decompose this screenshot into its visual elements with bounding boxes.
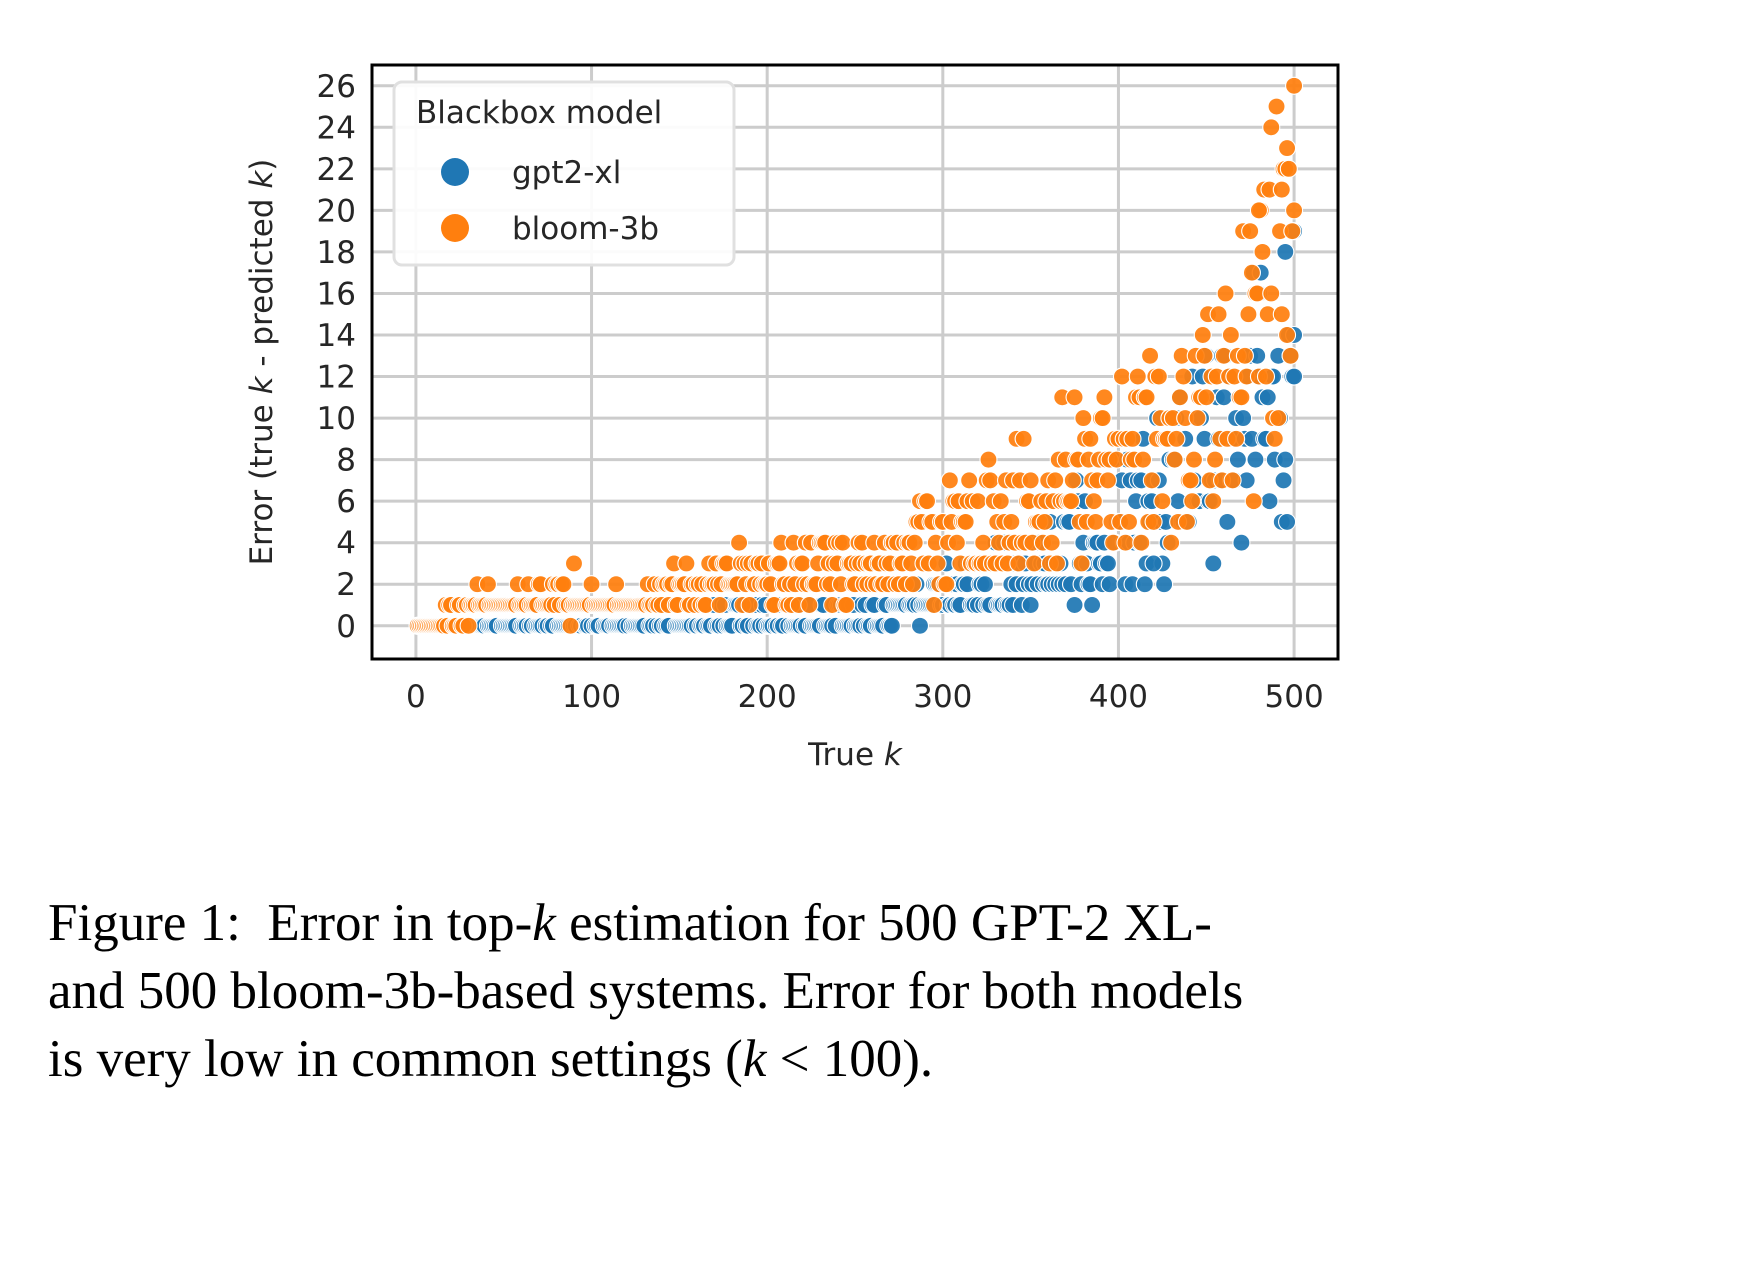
scatter-point-bloom-3b: [926, 597, 943, 614]
scatter-point-bloom-3b: [1217, 285, 1234, 302]
scatter-point-bloom-3b: [1185, 451, 1202, 468]
caption-line1-k: k: [532, 894, 556, 952]
caption-line1-b: estimation for 500 GPT-2 XL-: [556, 894, 1212, 952]
y-axis-title-a: Error (true: [244, 394, 280, 565]
scatter-point-bloom-3b: [1286, 202, 1303, 219]
scatter-point-bloom-3b: [1133, 534, 1150, 551]
scatter-point-bloom-3b: [741, 597, 758, 614]
scatter-point-gpt2-xl: [911, 617, 928, 634]
scatter-point-bloom-3b: [1129, 368, 1146, 385]
scatter-point-bloom-3b: [1280, 160, 1297, 177]
scatter-point-bloom-3b: [1120, 513, 1137, 530]
scatter-point-gpt2-xl: [1136, 576, 1153, 593]
legend-label-bloom-3b: bloom-3b: [512, 211, 659, 247]
x-tick-label: 500: [1265, 679, 1324, 715]
scatter-point-bloom-3b: [794, 555, 811, 572]
x-axis-title-italic: k: [884, 737, 903, 773]
scatter-point-bloom-3b: [1082, 430, 1099, 447]
scatter-point-bloom-3b: [1135, 451, 1152, 468]
scatter-point-bloom-3b: [1171, 389, 1188, 406]
scatter-point-gpt2-xl: [1279, 513, 1296, 530]
scatter-point-bloom-3b: [1022, 472, 1039, 489]
scatter-point-bloom-3b: [565, 555, 582, 572]
scatter-point-bloom-3b: [1282, 347, 1299, 364]
scatter-point-bloom-3b: [460, 617, 477, 634]
scatter-point-bloom-3b: [479, 576, 496, 593]
scatter-chart: 0100200300400500 02468101214161820222426…: [240, 55, 1360, 855]
scatter-point-gpt2-xl: [1022, 597, 1039, 614]
y-tick-labels: 02468101214161820222426: [317, 69, 356, 645]
scatter-point-bloom-3b: [948, 534, 965, 551]
y-tick-label: 18: [317, 235, 356, 271]
scatter-point-bloom-3b: [1154, 493, 1171, 510]
legend-marker-bloom-3b: [441, 214, 469, 242]
scatter-point-bloom-3b: [1113, 368, 1130, 385]
scatter-point-bloom-3b: [1168, 430, 1185, 447]
caption-line3-k: k: [743, 1030, 767, 1088]
scatter-point-bloom-3b: [1198, 389, 1215, 406]
scatter-point-bloom-3b: [929, 555, 946, 572]
scatter-point-bloom-3b: [1142, 347, 1159, 364]
scatter-point-bloom-3b: [1096, 389, 1113, 406]
scatter-point-bloom-3b: [1245, 493, 1262, 510]
legend-marker-gpt2-xl: [441, 158, 469, 186]
figure-block: 0100200300400500 02468101214161820222426…: [0, 0, 1750, 870]
scatter-point-bloom-3b: [904, 576, 921, 593]
scatter-point-gpt2-xl: [1286, 368, 1303, 385]
scatter-point-bloom-3b: [801, 597, 818, 614]
scatter-point-bloom-3b: [1047, 472, 1064, 489]
scatter-point-bloom-3b: [1189, 410, 1206, 427]
caption-line-2: and 500 bloom-3b-based systems. Error fo…: [48, 958, 1708, 1026]
y-tick-label: 20: [317, 193, 356, 229]
caption-line3-a: is very low in common settings (: [48, 1030, 743, 1088]
scatter-point-bloom-3b: [1236, 347, 1253, 364]
scatter-point-bloom-3b: [1175, 368, 1192, 385]
scatter-point-bloom-3b: [1064, 472, 1081, 489]
scatter-point-bloom-3b: [1063, 493, 1080, 510]
scatter-point-bloom-3b: [1178, 513, 1195, 530]
scatter-point-bloom-3b: [957, 513, 974, 530]
scatter-point-bloom-3b: [1266, 430, 1283, 447]
scatter-point-bloom-3b: [1124, 430, 1141, 447]
scatter-point-bloom-3b: [1036, 513, 1053, 530]
scatter-point-bloom-3b: [711, 597, 728, 614]
scatter-point-bloom-3b: [583, 576, 600, 593]
scatter-point-bloom-3b: [838, 597, 855, 614]
scatter-point-gpt2-xl: [1101, 576, 1118, 593]
scatter-point-bloom-3b: [1279, 140, 1296, 157]
scatter-point-bloom-3b: [969, 493, 986, 510]
scatter-point-bloom-3b: [1273, 306, 1290, 323]
scatter-point-bloom-3b: [1075, 410, 1092, 427]
y-tick-label: 12: [317, 360, 356, 396]
y-tick-label: 2: [336, 567, 356, 603]
scatter-point-bloom-3b: [555, 576, 572, 593]
scatter-point-bloom-3b: [1015, 430, 1032, 447]
scatter-point-bloom-3b: [1242, 223, 1259, 240]
scatter-point-bloom-3b: [1138, 389, 1155, 406]
scatter-point-gpt2-xl: [1099, 555, 1116, 572]
scatter-point-bloom-3b: [1066, 389, 1083, 406]
scatter-point-bloom-3b: [678, 555, 695, 572]
chart-legend[interactable]: Blackbox model gpt2-xl bloom-3b: [394, 82, 734, 265]
scatter-point-gpt2-xl: [1235, 410, 1252, 427]
scatter-point-bloom-3b: [1224, 472, 1241, 489]
scatter-point-bloom-3b: [1240, 306, 1257, 323]
scatter-point-bloom-3b: [1196, 347, 1213, 364]
scatter-point-bloom-3b: [1085, 493, 1102, 510]
scatter-point-bloom-3b: [1254, 243, 1271, 260]
scatter-point-bloom-3b: [1150, 368, 1167, 385]
scatter-point-bloom-3b: [980, 451, 997, 468]
y-axis-title-c: ): [244, 159, 280, 171]
scatter-point-bloom-3b: [1210, 306, 1227, 323]
scatter-point-bloom-3b: [961, 472, 978, 489]
scatter-point-gpt2-xl: [1259, 389, 1276, 406]
scatter-point-bloom-3b: [1166, 451, 1183, 468]
y-axis-title: Error (true k - predicted k): [244, 159, 280, 566]
scatter-point-bloom-3b: [1145, 513, 1162, 530]
scatter-point-bloom-3b: [1048, 555, 1065, 572]
y-tick-label: 6: [336, 484, 356, 520]
chart-svg: 0100200300400500 02468101214161820222426…: [240, 55, 1360, 855]
scatter-point-bloom-3b: [1243, 264, 1260, 281]
scatter-point-gpt2-xl: [976, 576, 993, 593]
scatter-point-gpt2-xl: [1145, 555, 1162, 572]
y-axis-title-k1: k: [244, 375, 280, 394]
y-tick-label: 8: [336, 443, 356, 479]
x-tick-label: 300: [913, 679, 972, 715]
y-axis-title-b: - predicted: [244, 189, 280, 377]
scatter-point-gpt2-xl: [1247, 451, 1264, 468]
y-tick-label: 0: [336, 609, 356, 645]
y-tick-label: 22: [317, 152, 356, 188]
scatter-point-bloom-3b: [1043, 534, 1060, 551]
scatter-point-gpt2-xl: [1233, 534, 1250, 551]
y-tick-label: 16: [317, 276, 356, 312]
figure-page: 0100200300400500 02468101214161820222426…: [0, 0, 1750, 1286]
scatter-point-bloom-3b: [982, 472, 999, 489]
scatter-point-bloom-3b: [1279, 327, 1296, 344]
caption-line-1: Figure 1: Error in top-k estimation for …: [48, 890, 1708, 958]
scatter-point-bloom-3b: [1270, 410, 1287, 427]
scatter-point-bloom-3b: [1194, 327, 1211, 344]
scatter-point-bloom-3b: [1263, 119, 1280, 136]
y-tick-label: 24: [317, 110, 356, 146]
scatter-point-gpt2-xl: [1084, 597, 1101, 614]
caption-prefix: Figure 1:: [48, 894, 241, 952]
scatter-point-bloom-3b: [975, 534, 992, 551]
scatter-point-bloom-3b: [731, 534, 748, 551]
scatter-point-bloom-3b: [562, 617, 579, 634]
scatter-point-bloom-3b: [919, 493, 936, 510]
scatter-point-bloom-3b: [1207, 451, 1224, 468]
figure-caption: Figure 1: Error in top-k estimation for …: [48, 890, 1708, 1093]
y-tick-label: 10: [317, 401, 356, 437]
scatter-point-gpt2-xl: [1261, 493, 1278, 510]
scatter-point-gpt2-xl: [1229, 451, 1246, 468]
x-tick-labels: 0100200300400500: [406, 679, 1324, 715]
scatter-point-bloom-3b: [1073, 555, 1090, 572]
scatter-point-bloom-3b: [941, 472, 958, 489]
scatter-point-gpt2-xl: [1156, 576, 1173, 593]
scatter-point-gpt2-xl: [1205, 555, 1222, 572]
scatter-point-bloom-3b: [1010, 555, 1027, 572]
x-axis-title: True k: [807, 737, 903, 773]
x-tick-label: 0: [406, 679, 426, 715]
scatter-point-bloom-3b: [1250, 202, 1267, 219]
scatter-point-bloom-3b: [1182, 472, 1199, 489]
x-tick-label: 100: [562, 679, 621, 715]
x-axis-title-text: True: [807, 737, 884, 773]
scatter-point-bloom-3b: [1087, 513, 1104, 530]
y-axis-title-k2: k: [244, 170, 280, 189]
scatter-point-bloom-3b: [834, 534, 851, 551]
scatter-point-bloom-3b: [1205, 493, 1222, 510]
scatter-point-gpt2-xl: [1066, 597, 1083, 614]
caption-line1-a: Error in top-: [267, 894, 532, 952]
scatter-point-bloom-3b: [1228, 430, 1245, 447]
caption-line2-text: and 500 bloom-3b-based systems. Error fo…: [48, 962, 1243, 1020]
scatter-point-bloom-3b: [1184, 493, 1201, 510]
scatter-point-gpt2-xl: [883, 617, 900, 634]
scatter-point-bloom-3b: [1026, 555, 1043, 572]
scatter-point-bloom-3b: [1273, 181, 1290, 198]
caption-line3-b: < 100).: [766, 1030, 933, 1088]
scatter-point-gpt2-xl: [1277, 451, 1294, 468]
y-tick-label: 4: [336, 526, 356, 562]
legend-label-gpt2-xl: gpt2-xl: [512, 155, 621, 191]
scatter-point-bloom-3b: [1268, 98, 1285, 115]
scatter-point-gpt2-xl: [1277, 243, 1294, 260]
scatter-point-gpt2-xl: [1275, 472, 1292, 489]
scatter-point-bloom-3b: [1143, 472, 1160, 489]
scatter-point-bloom-3b: [992, 493, 1009, 510]
scatter-point-bloom-3b: [1003, 513, 1020, 530]
scatter-point-gpt2-xl: [1215, 389, 1232, 406]
scatter-point-bloom-3b: [1286, 77, 1303, 94]
scatter-point-bloom-3b: [1117, 534, 1134, 551]
y-tick-label: 26: [317, 69, 356, 105]
scatter-point-bloom-3b: [1233, 389, 1250, 406]
caption-line-3: is very low in common settings (k < 100)…: [48, 1026, 1708, 1094]
scatter-point-bloom-3b: [771, 555, 788, 572]
scatter-point-bloom-3b: [1263, 285, 1280, 302]
scatter-point-bloom-3b: [906, 534, 923, 551]
x-tick-label: 400: [1089, 679, 1148, 715]
scatter-point-bloom-3b: [938, 576, 955, 593]
scatter-point-gpt2-xl: [1219, 513, 1236, 530]
scatter-point-bloom-3b: [1222, 327, 1239, 344]
legend-title: Blackbox model: [416, 95, 662, 131]
y-tick-label: 14: [317, 318, 356, 354]
scatter-point-bloom-3b: [1094, 410, 1111, 427]
scatter-point-bloom-3b: [1284, 223, 1301, 240]
scatter-point-bloom-3b: [1257, 368, 1274, 385]
scatter-point-bloom-3b: [1099, 472, 1116, 489]
x-tick-label: 200: [738, 679, 797, 715]
scatter-point-bloom-3b: [1163, 534, 1180, 551]
scatter-point-bloom-3b: [608, 576, 625, 593]
